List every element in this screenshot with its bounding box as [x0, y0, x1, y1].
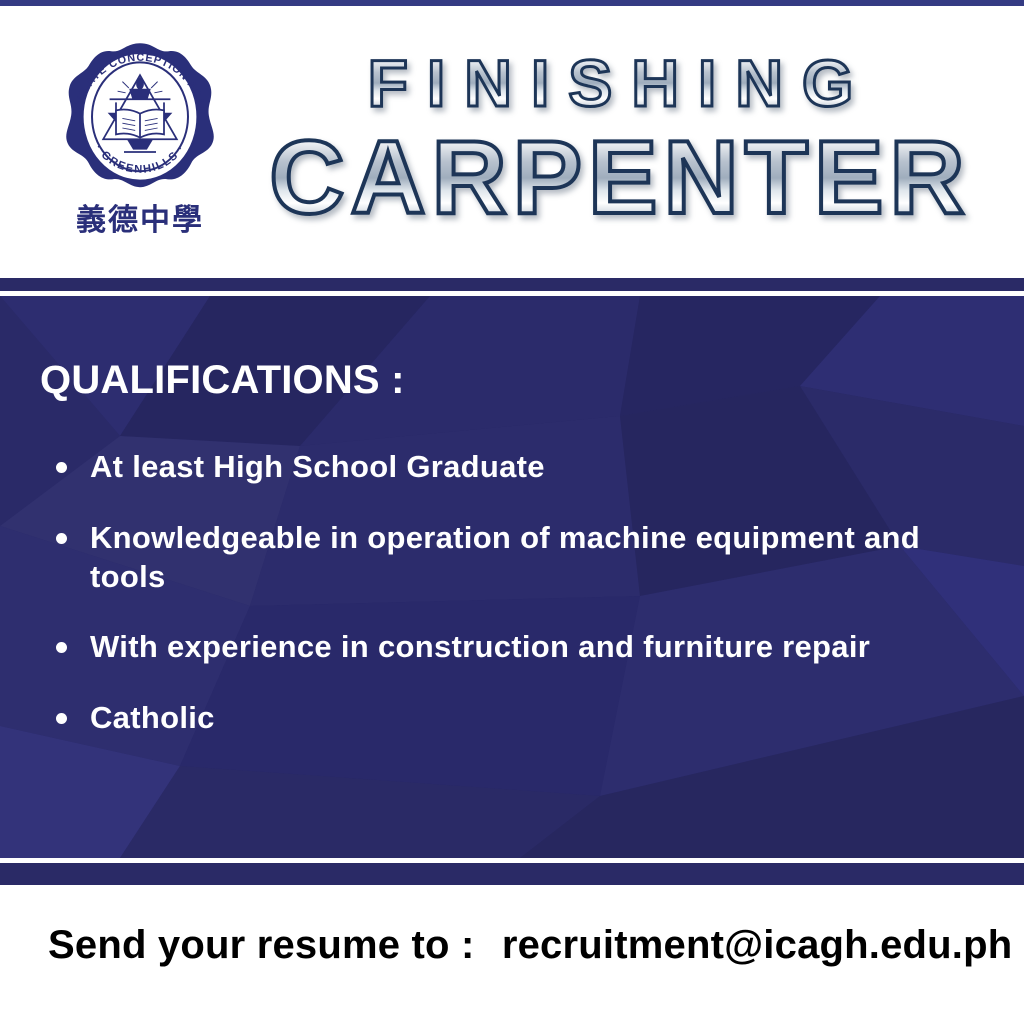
list-item-label: Knowledgeable in operation of machine eq… [90, 520, 920, 594]
list-item: Knowledgeable in operation of machine eq… [48, 519, 998, 597]
lower-navy-band [0, 863, 1024, 885]
job-title-line-2: CARPENTER [250, 126, 990, 230]
upper-navy-band [0, 278, 1024, 291]
contact-email[interactable]: recruitment@icagh.edu.ph [502, 923, 1013, 967]
bullet-dot-icon [56, 462, 67, 473]
poster-header: IMMACULATE CONCEPTION ACADEMY · GREENHIL… [0, 6, 1024, 278]
school-seal-icon: IMMACULATE CONCEPTION ACADEMY · GREENHIL… [60, 40, 220, 200]
list-item-label: At least High School Graduate [90, 449, 545, 484]
bullet-dot-icon [56, 642, 67, 653]
contact-label: Send your resume to : [48, 923, 475, 967]
qualifications-heading: QUALIFICATIONS : [40, 358, 405, 403]
job-title-block: FINISHING CARPENTER [250, 50, 990, 230]
bullet-dot-icon [56, 713, 67, 724]
qualifications-content: QUALIFICATIONS : At least High School Gr… [0, 296, 1024, 858]
school-logo: IMMACULATE CONCEPTION ACADEMY · GREENHIL… [44, 40, 236, 237]
bullet-dot-icon [56, 533, 67, 544]
job-title-line-1: FINISHING [250, 50, 990, 116]
list-item: Catholic [48, 699, 998, 738]
qualifications-list: At least High School Graduate Knowledgea… [48, 448, 998, 770]
poster-footer: Send your resume to : recruitment@icagh.… [0, 885, 1024, 1024]
school-chinese-name: 義德中學 [44, 204, 236, 237]
qualifications-panel: QUALIFICATIONS : At least High School Gr… [0, 296, 1024, 858]
contact-line: Send your resume to : recruitment@icagh.… [48, 923, 1012, 968]
job-posting-poster: IMMACULATE CONCEPTION ACADEMY · GREENHIL… [0, 0, 1024, 1024]
list-item-label: With experience in construction and furn… [90, 629, 870, 664]
list-item: With experience in construction and furn… [48, 628, 998, 667]
list-item: At least High School Graduate [48, 448, 998, 487]
list-item-label: Catholic [90, 700, 215, 735]
